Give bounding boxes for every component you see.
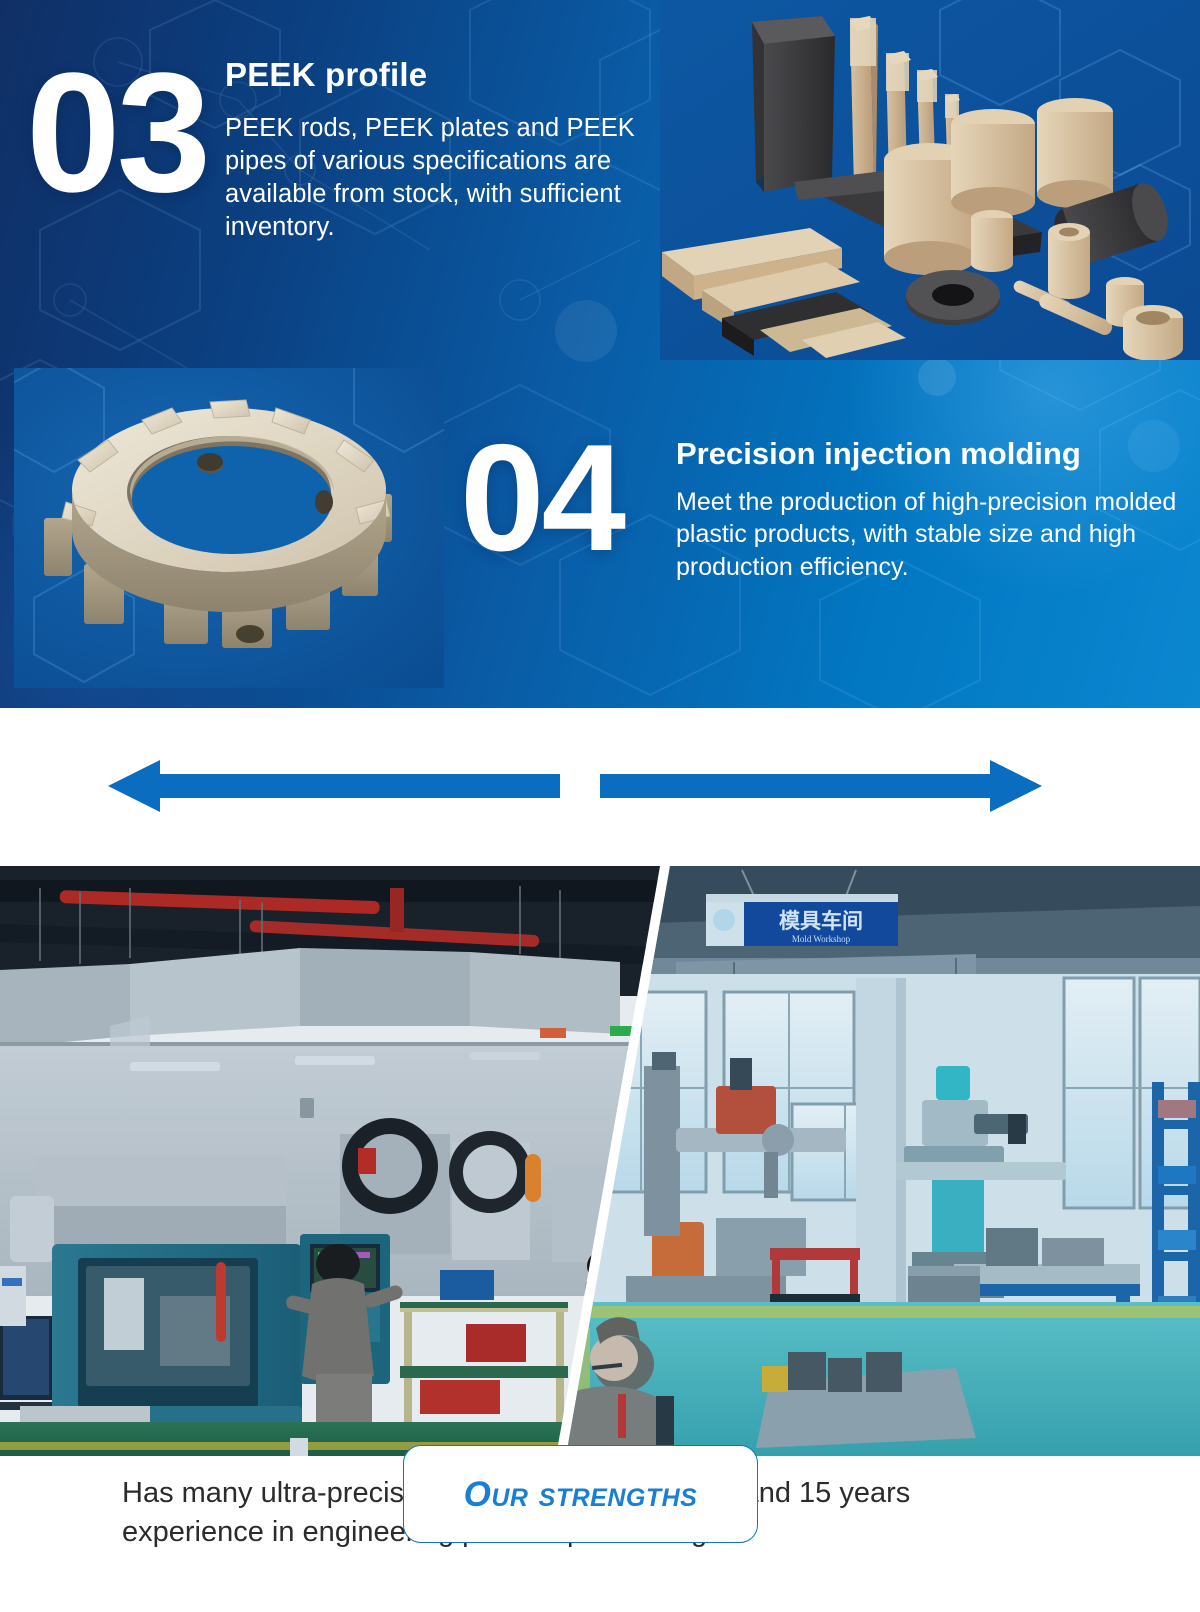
feature-text-04: Precision injection molding Meet the pro… <box>676 436 1196 584</box>
factory-photo-left <box>0 866 670 1456</box>
feature-title-03: PEEK profile <box>225 56 645 95</box>
peek-gear-ring-photo <box>14 368 444 688</box>
double-arrow-icon <box>0 708 1200 866</box>
decorative-dot <box>918 358 956 396</box>
factory-photo-right: 模具车间 Mold Workshop <box>556 866 1200 1456</box>
feature-title-04: Precision injection molding <box>676 436 1196 472</box>
feature-text-03: PEEK profile PEEK rods, PEEK plates and … <box>225 56 645 245</box>
feature-block-04: 04 Precision injection molding Meet the … <box>440 418 1200 658</box>
factory-photos: 模具车间 Mold Workshop <box>0 866 1200 1456</box>
feature-body-03: PEEK rods, PEEK plates and PEEK pipes of… <box>225 112 645 245</box>
feature-number-03: 03 <box>26 48 207 218</box>
peek-profiles-photo <box>660 0 1200 360</box>
strengths-label: Our strengths <box>464 1475 698 1515</box>
feature-body-04: Meet the production of high-precision mo… <box>676 486 1196 584</box>
strengths-banner: Our strengths <box>0 708 1200 866</box>
feature-number-04: 04 <box>460 422 623 574</box>
hero-section: 03 PEEK profile PEEK rods, PEEK plates a… <box>0 0 1200 708</box>
feature-block-03: 03 PEEK profile PEEK rods, PEEK plates a… <box>0 40 660 330</box>
product-capability-page: 03 PEEK profile PEEK rods, PEEK plates a… <box>0 0 1200 1612</box>
strengths-label-box: Our strengths <box>403 1445 758 1543</box>
